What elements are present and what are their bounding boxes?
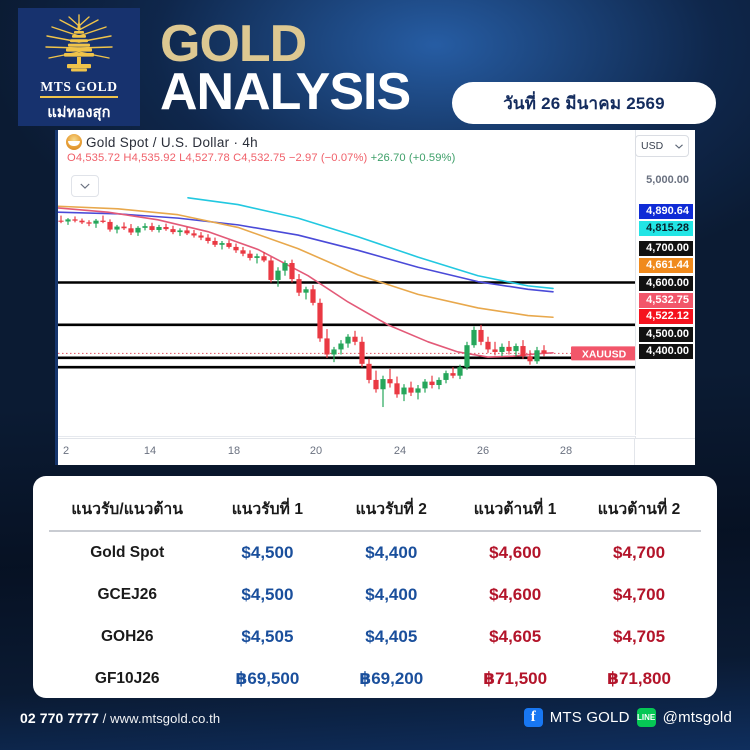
date-badge: วันที่ 26 มีนาคม 2569: [452, 82, 716, 124]
candle-body: [422, 382, 427, 389]
support-value: $4,505: [205, 616, 329, 658]
candle-body: [198, 235, 203, 237]
resistance-value: ฿71,500: [453, 658, 577, 700]
price-tick: 4,661.44: [639, 258, 693, 273]
resistance-value: $4,605: [453, 616, 577, 658]
candle-body: [366, 364, 371, 380]
line-name[interactable]: @mtsgold: [663, 709, 732, 726]
candle-body: [121, 227, 126, 229]
website-url[interactable]: www.mtsgold.co.th: [110, 711, 220, 726]
instrument-name: GF10J26: [49, 658, 205, 700]
candle-body: [191, 233, 196, 235]
levels-table: แนวรับ/แนวต้านแนวรับที่ 1แนวรับที่ 2แนวต…: [49, 490, 701, 700]
candle-body: [142, 226, 147, 228]
candle-body: [492, 349, 497, 352]
candle-body: [107, 222, 112, 230]
brand-name-th: แม่ทองสุก: [47, 101, 110, 124]
candle-body: [506, 347, 511, 351]
time-tick: 28: [560, 445, 572, 457]
candle-body: [527, 356, 532, 361]
support-value: $4,405: [329, 616, 453, 658]
header: MTS GOLD แม่ทองสุก GOLD ANALYSIS วันที่ …: [0, 0, 750, 130]
candle-body: [114, 227, 119, 230]
candle-body: [359, 342, 364, 364]
price-tick: 4,500.00: [639, 327, 693, 342]
candle-body: [184, 230, 189, 233]
candlestick-svg: XAUUSD: [58, 130, 638, 435]
support-value: ฿69,200: [329, 658, 453, 700]
candle-body: [205, 238, 210, 241]
time-tick: 24: [394, 445, 406, 457]
time-axis[interactable]: 2141820242628: [58, 438, 695, 465]
candle-body: [345, 337, 350, 344]
table-column-header: แนวรับที่ 2: [329, 490, 453, 531]
candle-body: [79, 221, 84, 223]
support-resistance-table: แนวรับ/แนวต้านแนวรับที่ 1แนวรับที่ 2แนวต…: [33, 476, 717, 698]
candle-body: [352, 337, 357, 342]
candle-body: [93, 221, 98, 224]
moving-average-line-2: [58, 206, 553, 317]
candle-body: [443, 373, 448, 380]
axis-divider: [634, 438, 635, 465]
resistance-value: ฿71,800: [577, 658, 701, 700]
candle-body: [317, 303, 322, 339]
social-links: f MTS GOLD LINE @mtsgold: [524, 708, 732, 727]
candle-body: [387, 379, 392, 383]
price-tick: 4,522.12: [639, 309, 693, 324]
support-value: $4,400: [329, 574, 453, 616]
candle-body: [58, 221, 63, 222]
support-value: ฿69,500: [205, 658, 329, 700]
price-tick: 4,890.64: [639, 204, 693, 219]
resistance-value: $4,700: [577, 531, 701, 574]
candle-body: [128, 228, 133, 232]
time-tick: 26: [477, 445, 489, 457]
price-axis[interactable]: 5,000.004,890.644,815.284,700.004,661.44…: [635, 130, 695, 435]
candle-body: [163, 227, 168, 229]
candle-body: [226, 243, 231, 247]
candle-body: [247, 254, 252, 258]
candle-body: [380, 379, 385, 389]
table-column-header: แนวรับที่ 1: [205, 490, 329, 531]
facebook-icon[interactable]: f: [524, 708, 543, 727]
time-tick: 2: [63, 445, 69, 457]
candle-body: [268, 260, 273, 279]
candle-body: [65, 219, 70, 221]
candle-body: [478, 330, 483, 342]
candle-body: [219, 243, 224, 245]
price-tick: 4,532.75: [639, 293, 693, 308]
instrument-name: GOH26: [49, 616, 205, 658]
table-header-row: แนวรับ/แนวต้านแนวรับที่ 1แนวรับที่ 2แนวต…: [49, 490, 701, 531]
phone-number: 02 770 7777: [20, 710, 99, 726]
candle-body: [303, 289, 308, 292]
page-title-gold: GOLD: [160, 20, 306, 69]
resistance-value: $4,600: [453, 574, 577, 616]
candle-body: [135, 228, 140, 233]
candle-body: [149, 226, 154, 230]
candle-body: [457, 367, 462, 375]
price-tick: 5,000.00: [639, 173, 693, 188]
price-tick: 4,600.00: [639, 276, 693, 291]
candle-body: [520, 346, 525, 356]
candle-body: [156, 227, 161, 230]
brand-logo: MTS GOLD แม่ทองสุก: [18, 8, 140, 126]
footer: 02 770 7777 / www.mtsgold.co.th f MTS GO…: [0, 698, 750, 750]
candle-body: [415, 388, 420, 392]
resistance-value: $4,700: [577, 574, 701, 616]
table-column-header: แนวรับ/แนวต้าน: [49, 490, 205, 531]
instrument-name: Gold Spot: [49, 531, 205, 574]
candle-body: [499, 347, 504, 352]
time-tick: 14: [144, 445, 156, 457]
candle-body: [373, 380, 378, 389]
table-column-header: แนวต้านที่ 2: [577, 490, 701, 531]
candle-body: [100, 221, 105, 222]
support-value: $4,400: [329, 531, 453, 574]
candle-body: [275, 271, 280, 280]
support-value: $4,500: [205, 531, 329, 574]
brand-name-en: MTS GOLD: [40, 79, 117, 98]
candle-body: [338, 344, 343, 350]
candle-body: [513, 346, 518, 351]
currency-select[interactable]: USD: [635, 135, 689, 157]
time-tick: 20: [310, 445, 322, 457]
candle-body: [331, 349, 336, 354]
candle-body: [436, 380, 441, 385]
price-tick: 4,815.28: [639, 221, 693, 236]
table-column-header: แนวต้านที่ 1: [453, 490, 577, 531]
candle-body: [401, 388, 406, 395]
candle-body: [394, 383, 399, 394]
candle-body: [541, 350, 546, 353]
candle-body: [289, 263, 294, 279]
resistance-value: $4,600: [453, 531, 577, 574]
chevron-down-icon: [675, 144, 683, 149]
chevron-down-icon: [80, 183, 90, 189]
candle-body: [485, 342, 490, 350]
candle-body: [324, 338, 329, 354]
table-row: GOH26$4,505$4,405$4,605$4,705: [49, 616, 701, 658]
candle-body: [534, 350, 539, 361]
contact-info: 02 770 7777 / www.mtsgold.co.th: [20, 710, 220, 726]
candle-body: [261, 256, 266, 260]
price-tick: 4,400.00: [639, 344, 693, 359]
tradingview-chart[interactable]: XAUUSD Gold Spot / U.S. Dollar · 4h O4,5…: [55, 130, 695, 465]
candle-body: [177, 230, 182, 232]
facebook-name[interactable]: MTS GOLD: [550, 709, 630, 726]
candle-body: [240, 250, 245, 253]
table-row: Gold Spot$4,500$4,400$4,600$4,700: [49, 531, 701, 574]
pagoda-icon: [36, 14, 122, 78]
candle-body: [450, 373, 455, 376]
price-tick: 4,700.00: [639, 241, 693, 256]
instrument-name: GCEJ26: [49, 574, 205, 616]
candle-body: [86, 222, 91, 223]
collapse-pane-button[interactable]: [71, 175, 99, 197]
candle-body: [72, 219, 77, 220]
candle-body: [429, 382, 434, 385]
support-value: $4,500: [205, 574, 329, 616]
page-title-analysis: ANALYSIS: [160, 68, 410, 117]
table-body: Gold Spot$4,500$4,400$4,600$4,700GCEJ26$…: [49, 531, 701, 700]
candle-body: [464, 345, 469, 367]
time-tick: 18: [228, 445, 240, 457]
candle-body: [233, 247, 238, 250]
resistance-value: $4,705: [577, 616, 701, 658]
candle-body: [471, 330, 476, 345]
currency-select-value: USD: [641, 140, 663, 152]
chart-plot-area[interactable]: XAUUSD: [58, 130, 638, 435]
price-label-text: XAUUSD: [582, 348, 627, 360]
candle-body: [282, 263, 287, 271]
line-icon[interactable]: LINE: [637, 708, 656, 727]
table-row: GF10J26฿69,500฿69,200฿71,500฿71,800: [49, 658, 701, 700]
separator: /: [99, 711, 110, 726]
table-row: GCEJ26$4,500$4,400$4,600$4,700: [49, 574, 701, 616]
candle-body: [254, 256, 259, 258]
candle-body: [212, 241, 217, 245]
candle-body: [170, 229, 175, 232]
candle-body: [408, 388, 413, 393]
candle-body: [310, 289, 315, 303]
candle-body: [296, 279, 301, 293]
moving-average-line-1: [188, 198, 553, 289]
